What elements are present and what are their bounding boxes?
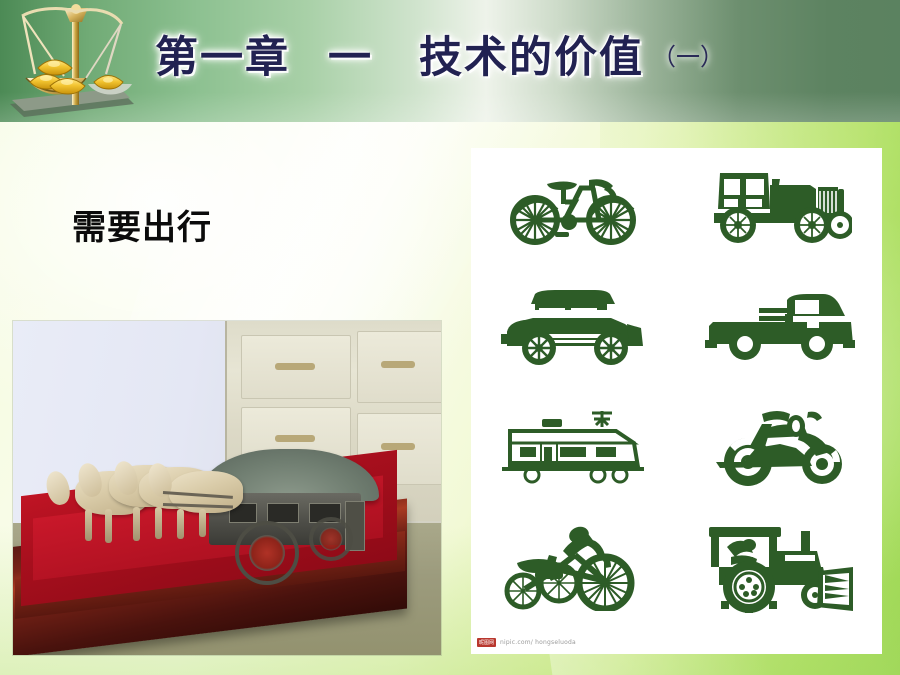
panel-watermark: 昵图网 nipic.com/ hongseluoda xyxy=(477,638,576,647)
presentation-slide: 第一章 一 技术的价值 （一） 需要出行 xyxy=(0,0,900,675)
pickup-truck-icon xyxy=(677,268,883,388)
slide-header-band: 第一章 一 技术的价值 （一） xyxy=(0,0,900,122)
photo-horse-leg xyxy=(85,509,92,541)
bronze-chariot-model-photo xyxy=(13,321,441,655)
title-section: 一 xyxy=(328,23,373,85)
bicycle-icon xyxy=(471,148,677,268)
photo-horse-leg xyxy=(133,507,140,541)
vehicle-icon-panel: 昵图网 nipic.com/ hongseluoda xyxy=(471,148,882,654)
balance-scale-icon xyxy=(2,0,152,122)
photo-chariot-window xyxy=(267,503,299,523)
photo-horse-leg xyxy=(199,509,206,537)
photo-chariot-wheel xyxy=(235,521,299,585)
scooter-icon xyxy=(677,388,883,508)
train-icon xyxy=(471,388,677,508)
watermark-text: nipic.com/ hongseluoda xyxy=(500,639,576,646)
photo-horse-leg xyxy=(105,509,112,543)
title-topic: 技术的价值 xyxy=(419,23,644,85)
slide-title: 第一章 一 技术的价值 （一） xyxy=(155,14,885,94)
watermark-badge: 昵图网 xyxy=(477,638,496,647)
photo-drawer-handle xyxy=(275,435,315,442)
photo-horse-leg xyxy=(155,507,162,539)
body-caption: 需要出行 xyxy=(72,200,212,249)
photo-horse-leg xyxy=(177,509,184,539)
title-chapter: 第一章 xyxy=(155,23,290,85)
photo-drawer-handle xyxy=(381,443,415,450)
tractor-icon xyxy=(677,508,883,628)
photo-drawer-handle xyxy=(381,361,415,368)
classic-sedan-icon xyxy=(471,268,677,388)
photo-drawer-handle xyxy=(275,363,315,370)
vehicle-icon-grid xyxy=(471,148,882,628)
photo-chariot-wheel xyxy=(309,517,353,561)
title-part-suffix: （一） xyxy=(652,37,724,72)
vintage-car-icon xyxy=(677,148,883,268)
tricycle-icon xyxy=(471,508,677,628)
